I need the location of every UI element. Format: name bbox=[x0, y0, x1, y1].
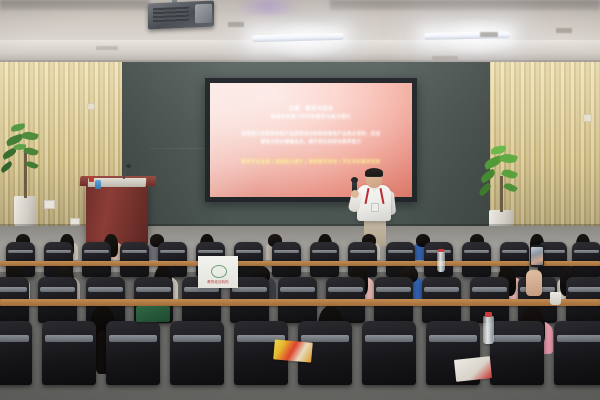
seat-back-bar bbox=[109, 335, 156, 341]
glasses-icon bbox=[367, 176, 381, 180]
desk-ledge bbox=[0, 299, 600, 306]
seat-back-bar bbox=[236, 250, 262, 253]
wall-marker-right bbox=[583, 114, 592, 122]
wall-marker-left bbox=[87, 103, 95, 110]
bottle-cap bbox=[438, 249, 443, 253]
seat-back-bar bbox=[376, 287, 410, 292]
wall-socket-left bbox=[44, 200, 55, 209]
ceiling-vent-left bbox=[228, 22, 244, 27]
auditorium-seat[interactable] bbox=[120, 242, 149, 276]
presenter-badge bbox=[371, 203, 379, 212]
ceiling-purple-reflection bbox=[236, 0, 300, 14]
slide-body-line-2: 要有大的价值输出点，提升师生的综合素养能力 bbox=[210, 139, 412, 145]
auditorium-seat[interactable] bbox=[42, 321, 96, 384]
seat-back-bar bbox=[184, 287, 218, 292]
seat-back-bar bbox=[274, 250, 300, 253]
seat-back-bar bbox=[173, 335, 220, 341]
projector-icon bbox=[148, 1, 214, 30]
seat-back-bar bbox=[122, 250, 148, 253]
auditorium-seat[interactable] bbox=[106, 321, 160, 384]
lectern-red-item bbox=[89, 176, 94, 182]
seat-back-bar bbox=[136, 287, 170, 292]
auditorium-seat[interactable] bbox=[170, 321, 224, 384]
seat-back-bar bbox=[464, 250, 490, 253]
auditorium-seat[interactable] bbox=[490, 321, 544, 384]
auditorium-seat[interactable] bbox=[310, 242, 339, 276]
ceiling-seam-left bbox=[96, 46, 118, 50]
seat-back-bar bbox=[557, 335, 600, 341]
ceiling-soffit bbox=[0, 40, 600, 62]
ceiling-shadow-right bbox=[330, 0, 600, 10]
slide-subheading: 新高考背景下的学科素养与能力提升 bbox=[210, 114, 412, 120]
auditorium-seat[interactable] bbox=[554, 321, 600, 384]
presenter-hand bbox=[351, 190, 359, 198]
seat-back-bar bbox=[312, 250, 338, 253]
seat-back-bar bbox=[574, 250, 600, 253]
seat-back-bar bbox=[350, 250, 376, 253]
seat-back-bar bbox=[0, 335, 29, 341]
tote-bag-text: 教育培训机构 bbox=[198, 279, 238, 284]
seat-back-bar bbox=[198, 250, 224, 253]
seat-back-bar bbox=[0, 287, 27, 292]
bottle-cap bbox=[485, 312, 492, 317]
tote-bag-logo-icon bbox=[211, 265, 227, 278]
seat-back-bar bbox=[472, 287, 506, 292]
auditorium-seat[interactable] bbox=[82, 242, 111, 276]
colorful-flyer bbox=[273, 339, 313, 362]
seat-back-bar bbox=[8, 250, 34, 253]
ceiling-vent-mid bbox=[480, 32, 498, 37]
slide-body-line-1: 如果是义务教育阶段产品或是培训机构的落地产品是必须的，应该 bbox=[210, 131, 412, 137]
seat-back-bar bbox=[160, 250, 186, 253]
auditorium-seat[interactable] bbox=[0, 321, 32, 384]
projector-vent bbox=[153, 7, 189, 24]
smartphone bbox=[530, 245, 544, 267]
program-sheet bbox=[454, 356, 492, 382]
seat-back-bar bbox=[46, 250, 72, 253]
audience-seating-area: 教育培训机构 bbox=[0, 232, 600, 400]
auditorium-seat[interactable] bbox=[272, 242, 301, 276]
lecture-hall-photo: 主题 · 教育与成长 新高考背景下的学科素养与能力提升 如果是义务教育阶段产品或… bbox=[0, 0, 600, 400]
seat-back-bar bbox=[88, 287, 122, 292]
ceiling-vent-right bbox=[556, 28, 572, 33]
seat-back-bar bbox=[388, 250, 414, 253]
slide-heading: 主题 · 教育与成长 bbox=[210, 105, 412, 112]
green-handbag bbox=[136, 306, 170, 322]
seat-back-bar bbox=[280, 287, 314, 292]
seat-back-bar bbox=[45, 335, 92, 341]
seat-back-bar bbox=[365, 335, 412, 341]
plant-right-trunk bbox=[500, 176, 503, 212]
lectern-blue-item bbox=[95, 180, 101, 189]
slide-footer: 教师专业发展 | 课程能力提升 | 课堂教学改进 | 学生学科素养培育 bbox=[210, 159, 412, 165]
seat-back-bar bbox=[328, 287, 362, 292]
seat-back-bar bbox=[493, 335, 540, 341]
desk-ledge bbox=[0, 261, 600, 266]
water-bottle-2 bbox=[437, 252, 445, 272]
auditorium-seat[interactable] bbox=[362, 321, 416, 384]
seat-back-bar bbox=[232, 287, 266, 292]
raised-hand bbox=[526, 270, 542, 296]
projector-lens-icon bbox=[195, 4, 212, 24]
seat-back-bar bbox=[429, 335, 476, 341]
seat-back-bar bbox=[301, 335, 348, 341]
seat-back-bar bbox=[568, 287, 600, 292]
seat-back-bar bbox=[40, 287, 74, 292]
seat-back-bar bbox=[424, 287, 458, 292]
lectern-microphone-icon bbox=[126, 164, 131, 168]
seat-back-bar bbox=[502, 250, 528, 253]
tote-bag: 教育培训机构 bbox=[198, 256, 238, 288]
auditorium-seat[interactable] bbox=[462, 242, 491, 276]
plant-left-trunk bbox=[24, 148, 27, 198]
water-bottle-1 bbox=[483, 316, 494, 344]
microphone-head-icon bbox=[351, 177, 358, 183]
ceiling-shadow-left bbox=[0, 0, 150, 10]
ceiling-seam-right bbox=[432, 56, 458, 60]
seat-back-bar bbox=[84, 250, 110, 253]
paper-cup bbox=[550, 292, 561, 305]
phone-screen bbox=[531, 247, 543, 265]
